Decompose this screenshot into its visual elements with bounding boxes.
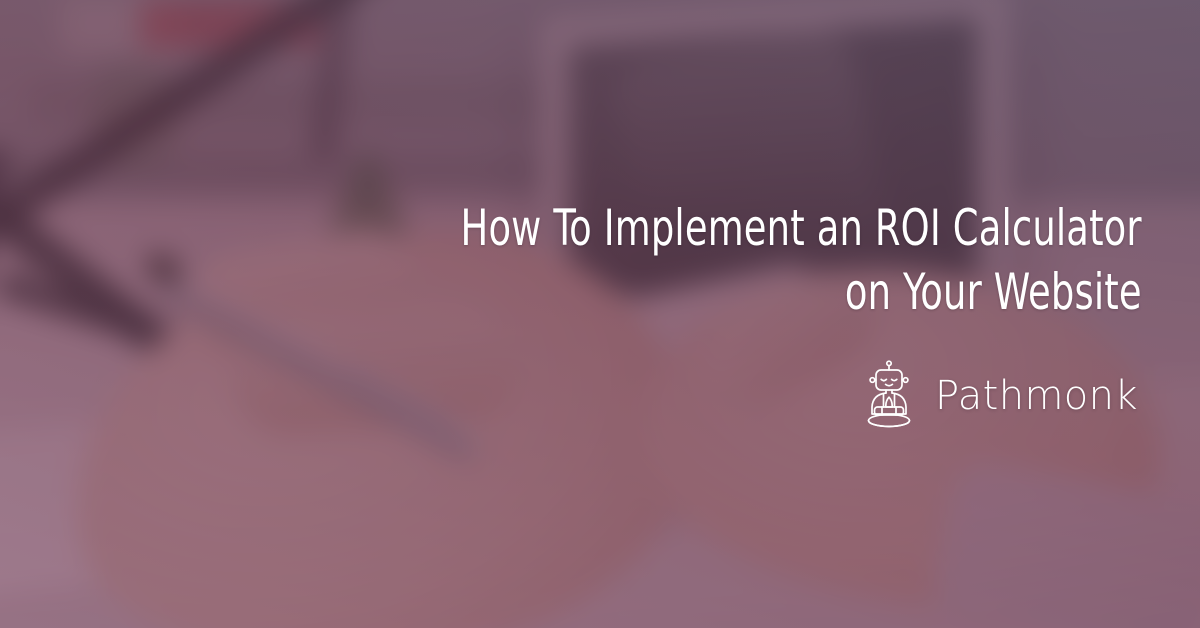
brand-lockup: Pathmonk: [861, 360, 1138, 432]
title-line-2: on Your Website: [461, 260, 1142, 324]
social-share-card: How To Implement an ROI Calculator on Yo…: [0, 0, 1200, 628]
page-title: How To Implement an ROI Calculator on Yo…: [461, 196, 1142, 324]
title-line-1: How To Implement an ROI Calculator: [461, 196, 1142, 260]
brand-name: Pathmonk: [935, 376, 1138, 416]
robot-monk-icon: [861, 360, 917, 432]
card-content: How To Implement an ROI Calculator on Yo…: [0, 0, 1200, 628]
